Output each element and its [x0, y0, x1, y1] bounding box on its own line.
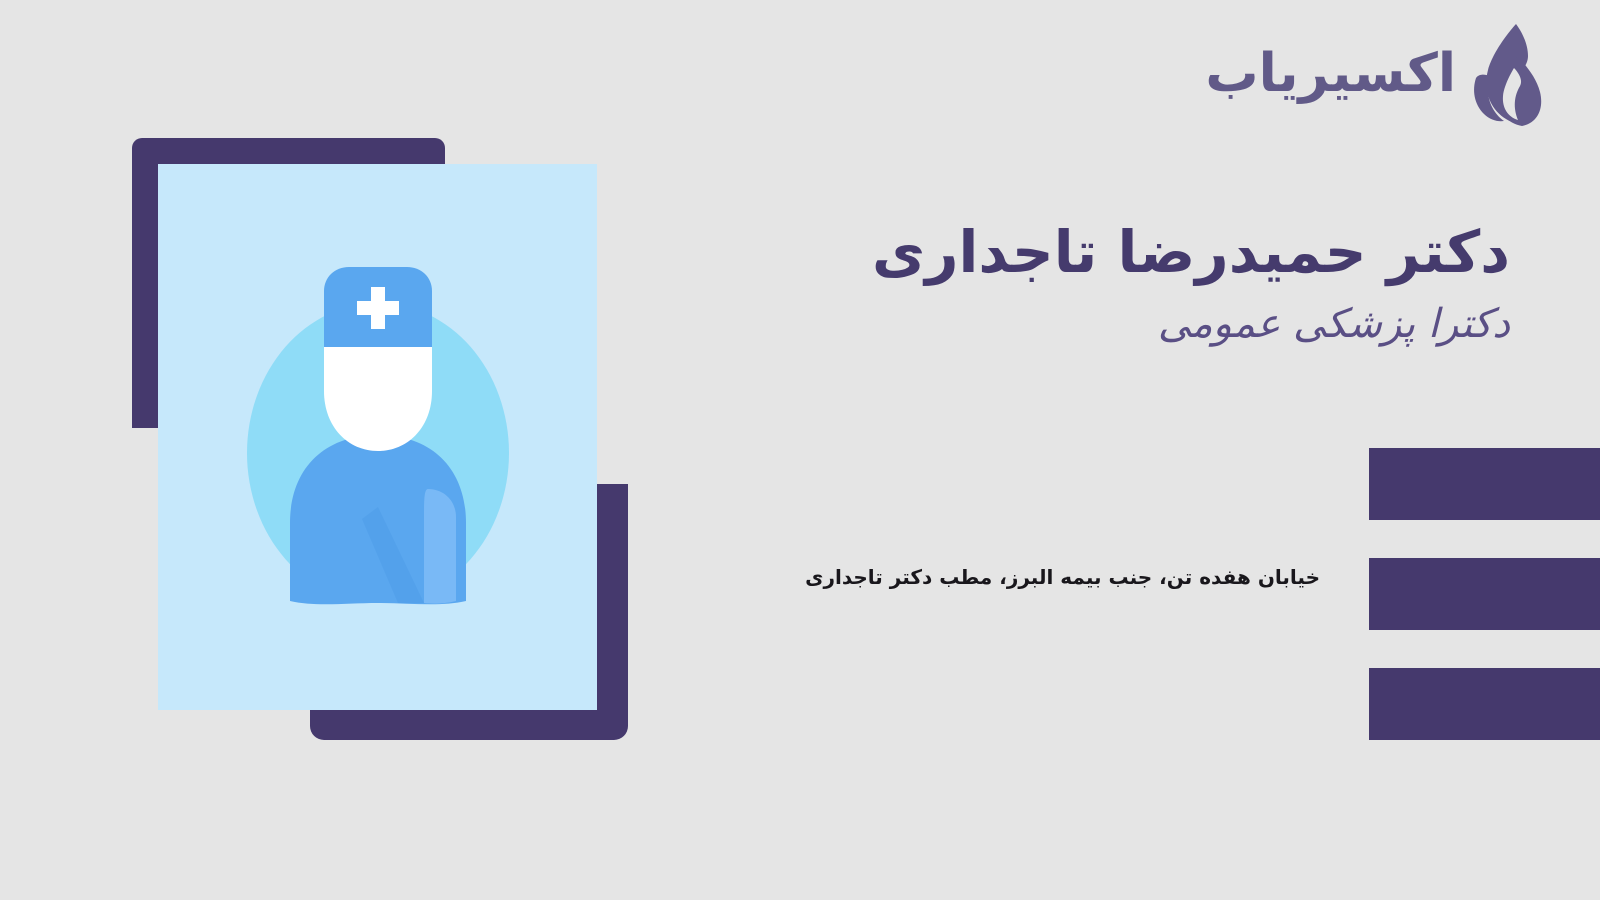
- doctor-profile-banner: اکسیریاب: [0, 0, 1600, 900]
- doctor-specialty: دکترا پزشکی عمومی: [730, 300, 1510, 348]
- clinic-address: خیابان هفده تن، جنب بیمه البرز، مطب دکتر…: [805, 563, 1320, 591]
- decorative-bar-1: [1369, 448, 1600, 520]
- decorative-bar-2: [1369, 558, 1600, 630]
- decorative-bar-3: [1369, 668, 1600, 740]
- flame-drop-icon: [1470, 22, 1544, 128]
- doctor-artwork: [132, 138, 628, 740]
- doctor-name: دکتر حمیدرضا تاجداری: [730, 218, 1510, 286]
- doctor-info: دکتر حمیدرضا تاجداری دکترا پزشکی عمومی: [730, 218, 1510, 348]
- decorative-bars: [1369, 448, 1600, 740]
- doctor-photo-card: [158, 164, 597, 710]
- doctor-avatar-icon: [228, 257, 528, 617]
- brand-name: اکسیریاب: [1205, 47, 1456, 104]
- brand-logo[interactable]: اکسیریاب: [1205, 22, 1544, 128]
